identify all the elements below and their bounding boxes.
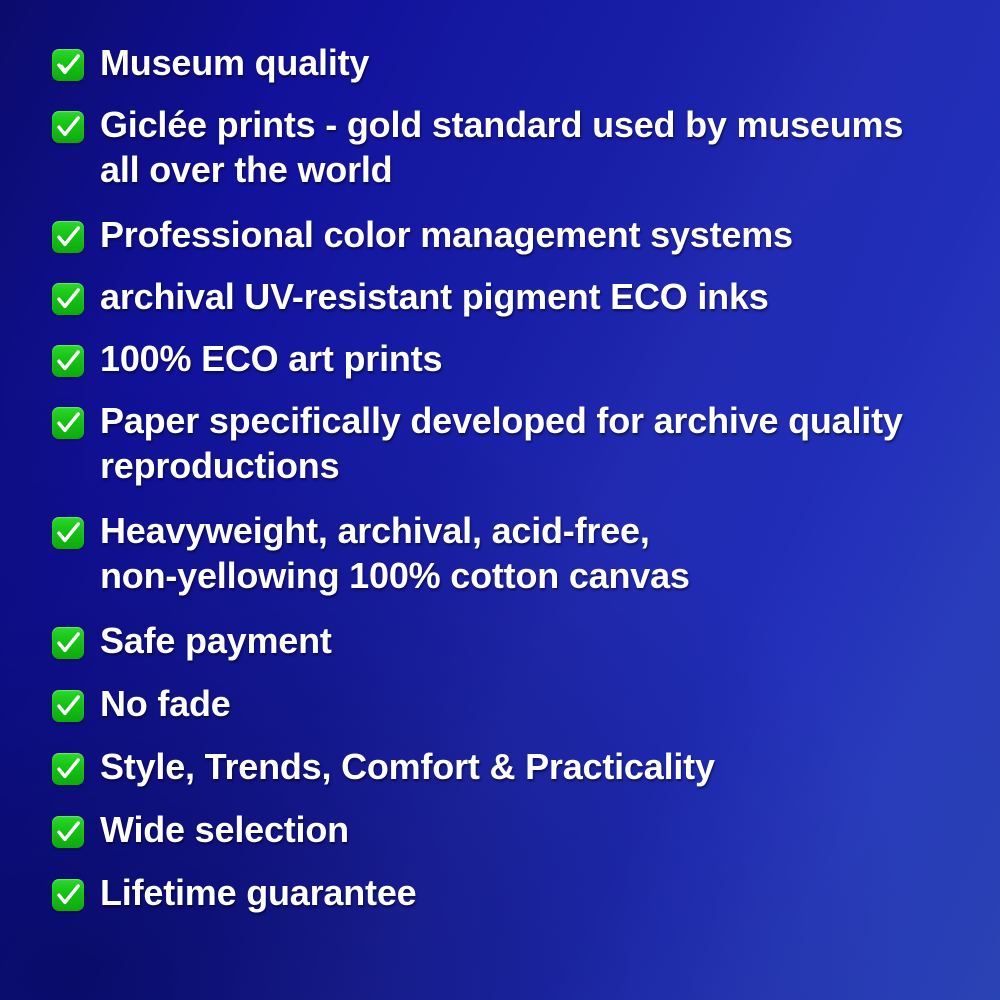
- check-square-icon: [52, 690, 84, 722]
- list-item-label: Lifetime guarantee: [100, 870, 416, 915]
- list-item: No fade: [52, 681, 980, 726]
- list-item-label: Safe payment: [100, 618, 332, 663]
- list-item-label: Museum quality: [100, 40, 369, 85]
- list-item-label: Professional color management systems: [100, 212, 793, 257]
- list-item: Heavyweight, archival, acid-free, non-ye…: [52, 508, 980, 598]
- check-square-icon: [52, 345, 84, 377]
- list-item-label: Paper specifically developed for archive…: [100, 398, 903, 488]
- feature-list: Museum quality Giclée prints - gold stan…: [0, 0, 1000, 915]
- check-square-icon: [52, 879, 84, 911]
- list-item-label: Style, Trends, Comfort & Practicality: [100, 744, 715, 789]
- list-item: Professional color management systems: [52, 212, 980, 257]
- list-item-label: Heavyweight, archival, acid-free, non-ye…: [100, 508, 690, 598]
- list-item-label: 100% ECO art prints: [100, 336, 442, 381]
- list-item: archival UV-resistant pigment ECO inks: [52, 274, 980, 319]
- list-item-label: Giclée prints - gold standard used by mu…: [100, 102, 903, 192]
- check-square-icon: [52, 627, 84, 659]
- check-square-icon: [52, 753, 84, 785]
- feature-list-poster: Museum quality Giclée prints - gold stan…: [0, 0, 1000, 1000]
- list-item: 100% ECO art prints: [52, 336, 980, 381]
- check-square-icon: [52, 517, 84, 549]
- list-item-label: Wide selection: [100, 807, 349, 852]
- check-square-icon: [52, 221, 84, 253]
- check-square-icon: [52, 111, 84, 143]
- list-item-label: archival UV-resistant pigment ECO inks: [100, 274, 769, 319]
- check-square-icon: [52, 283, 84, 315]
- list-item: Wide selection: [52, 807, 980, 852]
- check-square-icon: [52, 816, 84, 848]
- check-square-icon: [52, 49, 84, 81]
- list-item: Paper specifically developed for archive…: [52, 398, 980, 488]
- list-item-label: No fade: [100, 681, 231, 726]
- list-item: Giclée prints - gold standard used by mu…: [52, 102, 980, 192]
- list-item: Lifetime guarantee: [52, 870, 980, 915]
- list-item: Museum quality: [52, 40, 980, 85]
- list-item: Style, Trends, Comfort & Practicality: [52, 744, 980, 789]
- list-item: Safe payment: [52, 618, 980, 663]
- check-square-icon: [52, 407, 84, 439]
